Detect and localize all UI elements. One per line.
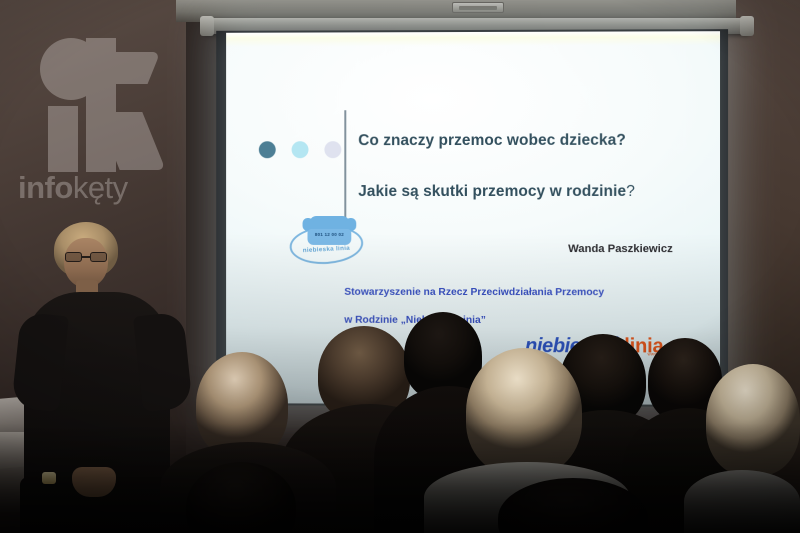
watermark-text-light: kęty — [73, 170, 128, 205]
audience-shoulders — [528, 410, 684, 533]
slide-headline-2: Jakie są skutki przemocy w rodzinie? — [358, 183, 719, 201]
slide-headline-1: Co znaczy przemoc wobec dziecka? — [358, 132, 719, 151]
slide-decoration-dots — [259, 141, 341, 158]
ceiling-vent-icon — [452, 2, 504, 13]
telephone-icon — [309, 216, 349, 229]
glasses-bridge — [82, 256, 90, 258]
audience-shoulders — [424, 462, 630, 533]
slide-headline-2-mark: ? — [626, 183, 635, 200]
glasses-icon — [64, 252, 108, 262]
wordmark-blue-text: niebieska — [525, 335, 613, 358]
chair — [330, 448, 450, 533]
glasses-lens-left — [65, 252, 82, 262]
audience-head — [498, 478, 648, 533]
presenter-wristwatch — [42, 472, 56, 484]
audience-shoulders — [280, 404, 460, 533]
slide-vertical-rule — [344, 110, 346, 228]
presentation-photo: Co znaczy przemoc wobec dziecka? Jakie s… — [0, 0, 800, 533]
watermark-text-bold: info — [18, 170, 73, 205]
slide-org-line-1: Stowarzyszenie na Rzecz Przeciwdziałania… — [344, 287, 604, 298]
niebieska-linia-phone-logo: 801 12 00 02 niebieska linia — [288, 216, 370, 266]
glasses-lens-right — [90, 252, 107, 262]
watermark-i-stem — [48, 106, 78, 172]
infokety-watermark: infokęty — [8, 34, 158, 170]
audience-shoulders — [160, 442, 336, 533]
slide-headline-2-main: Jakie są skutki przemocy w rodzinie — [358, 183, 626, 200]
slide-author: Wanda Paszkiewicz — [568, 243, 673, 255]
wordmark-url: www.niebieskalinia.pl — [648, 351, 694, 356]
audience-shoulders — [374, 386, 524, 533]
projection-screen: Co znaczy przemoc wobec dziecka? Jakie s… — [226, 31, 720, 405]
wordmark-swish-icon: ) — [615, 332, 622, 358]
presenter-hands — [72, 467, 116, 497]
phone-logo-number: 801 12 00 02 — [309, 232, 349, 237]
dot-pale-lavender — [324, 141, 341, 158]
dot-light-cyan — [292, 141, 309, 158]
presenter-arm-left — [11, 312, 69, 412]
roller-cap-right — [740, 16, 754, 36]
dot-dark-teal — [259, 141, 276, 158]
roller-cap-left — [200, 16, 214, 36]
niebieska-linia-wordmark: niebieska ) linia www.niebieskalinia.pl — [525, 332, 663, 358]
slide-org-line-2: w Rodzinie „Niebieska Linia” — [344, 315, 486, 326]
watermark-text: infokęty — [18, 172, 128, 203]
slide-content: Co znaczy przemoc wobec dziecka? Jakie s… — [226, 31, 720, 405]
presenter — [14, 222, 184, 533]
presenter-arm-right — [133, 312, 193, 413]
projection-screen-frame: Co znaczy przemoc wobec dziecka? Jakie s… — [216, 29, 728, 407]
audience-head — [186, 462, 296, 533]
